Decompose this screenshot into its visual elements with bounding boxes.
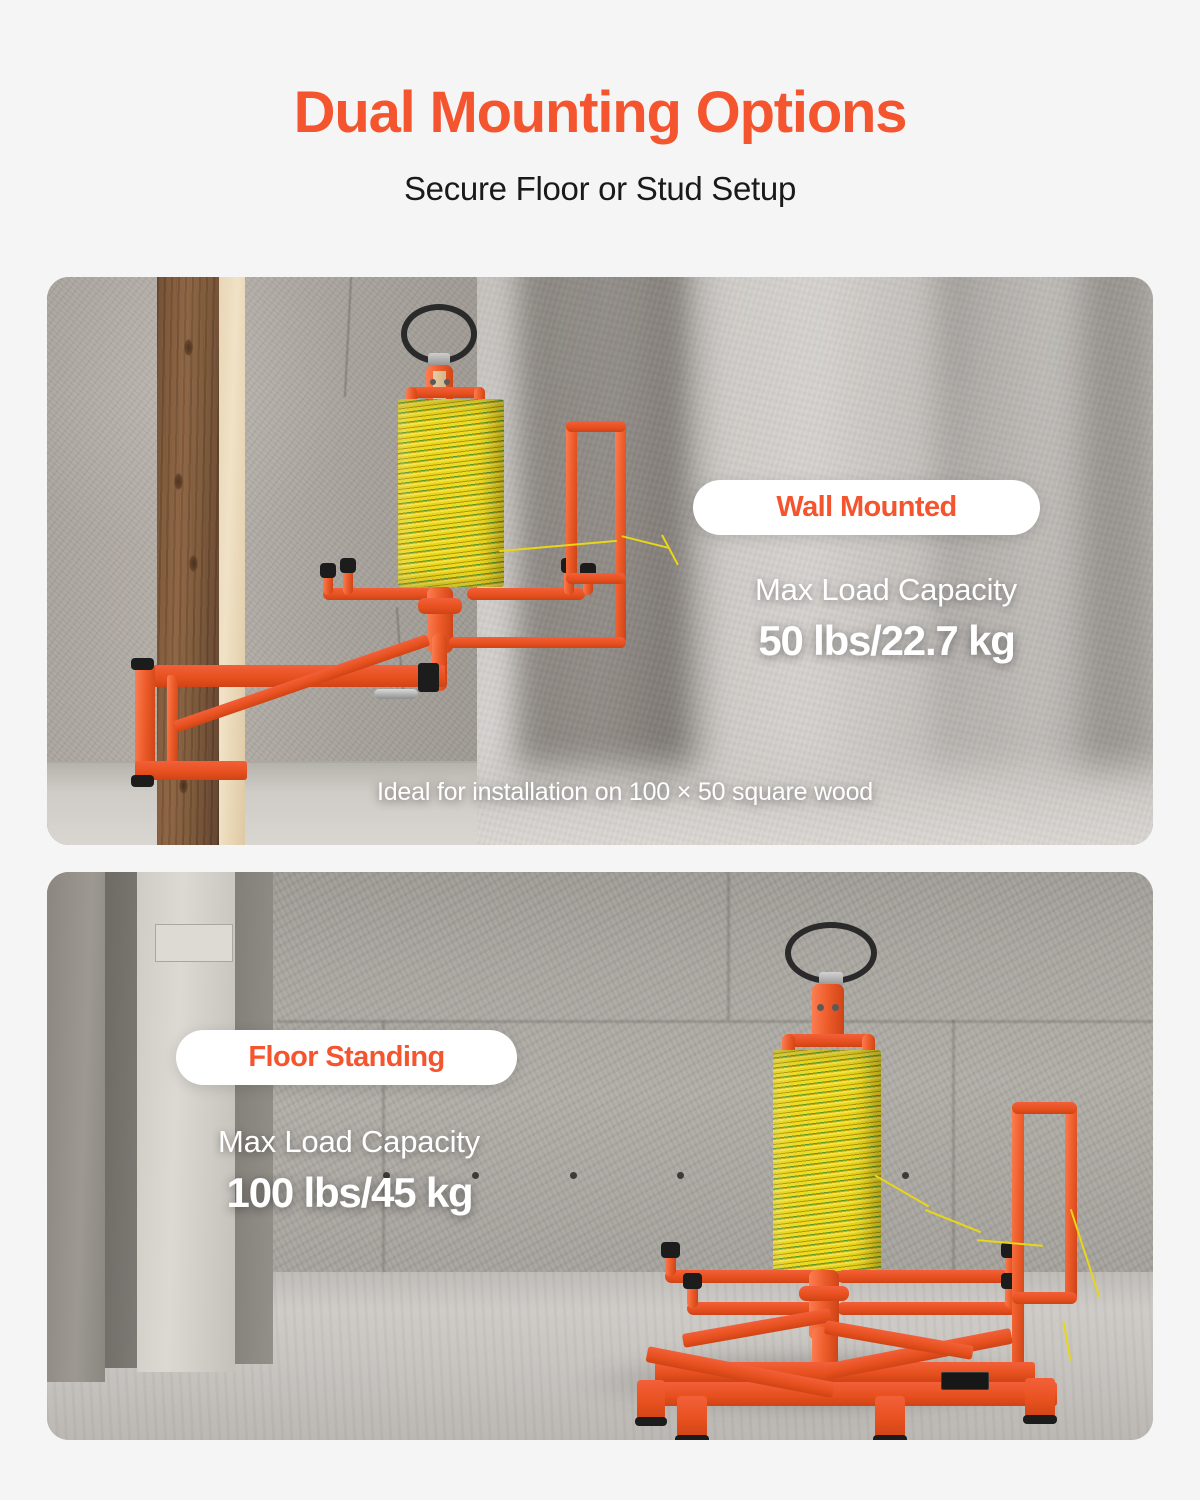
arm-cap-back-left: [661, 1242, 680, 1258]
anchor-dot-4: [677, 1172, 684, 1179]
mast-bolt-2: [832, 1004, 839, 1011]
page-title: Dual Mounting Options: [0, 84, 1200, 142]
floor-standing-badge-label: Floor Standing: [248, 1041, 444, 1074]
stud-edge: [219, 277, 245, 845]
wall-plate: [155, 924, 233, 962]
spec-label-plate: [941, 1372, 989, 1390]
wall-capacity-label: Max Load Capacity: [736, 572, 1036, 608]
mortar-joint-vertical-3: [952, 1020, 955, 1272]
arm-cap-far-left: [320, 563, 336, 578]
product-feature-page: Dual Mounting Options Secure Floor or St…: [0, 0, 1200, 1500]
floor-standing-badge: Floor Standing: [176, 1030, 517, 1085]
wire-coil: [398, 399, 504, 587]
base-foot-front-right: [875, 1396, 905, 1438]
arm-cap-front-left: [683, 1273, 702, 1289]
anchor-dot-6: [902, 1172, 909, 1179]
pivot-cap: [418, 663, 439, 692]
stud-knot-1: [184, 339, 193, 356]
mortar-joint-vertical-1: [727, 872, 730, 1020]
wall-footnote: Ideal for installation on 100 × 50 squar…: [305, 778, 945, 807]
wall-mounted-badge-label: Wall Mounted: [776, 491, 956, 524]
floor-standing-photo: Floor Standing Max Load Capacity 100 lbs…: [47, 872, 1153, 1440]
wall-mounted-photo: Wall Mounted Max Load Capacity 50 lbs/22…: [47, 277, 1153, 845]
guide-loop-lower-rail: [449, 637, 626, 648]
spool-arm-bar-right: [837, 1270, 1017, 1283]
stud-knot-2: [174, 473, 183, 490]
pillar-gap-shadow: [105, 872, 137, 1368]
stud-knot-3: [189, 555, 198, 572]
foot-pad-left: [635, 1417, 667, 1426]
pillar-shadow-right: [235, 872, 273, 1364]
hub-collar: [799, 1286, 849, 1301]
guide-loop-bottom: [566, 573, 626, 584]
pillar-outer: [47, 872, 105, 1382]
guide-loop-bottom: [1012, 1292, 1077, 1304]
mortar-joint-horizontal: [277, 1020, 1153, 1023]
base-foot-right: [1025, 1378, 1055, 1418]
foot-pad-front-right: [873, 1435, 907, 1440]
anchor-dot-3: [570, 1172, 577, 1179]
wire-coil: [773, 1050, 881, 1282]
guide-loop-left-leg: [1012, 1102, 1024, 1402]
spool-arm-bar-left: [323, 588, 433, 600]
page-subtitle: Secure Floor or Stud Setup: [0, 170, 1200, 208]
guide-loop-top: [1012, 1102, 1077, 1114]
foot-pad-front-left: [675, 1435, 709, 1440]
bracket-cap-top: [131, 658, 154, 670]
mast-bolt-1: [817, 1004, 824, 1011]
guide-loop-top: [566, 421, 626, 432]
arm-cap-left: [340, 558, 356, 573]
floor-capacity-label: Max Load Capacity: [189, 1124, 509, 1160]
wall-mounted-badge: Wall Mounted: [693, 480, 1040, 535]
wall-capacity-value: 50 lbs/22.7 kg: [709, 617, 1064, 665]
guide-loop-left-leg: [566, 421, 577, 582]
page-header: Dual Mounting Options Secure Floor or St…: [0, 0, 1200, 208]
bracket-cap-bottom: [131, 775, 154, 787]
foot-pad-right: [1023, 1415, 1057, 1424]
mast-bolt-2: [444, 379, 450, 385]
base-foot-front-left: [677, 1396, 707, 1438]
pivot-pin: [374, 689, 418, 699]
guide-loop-right-leg: [1065, 1102, 1077, 1302]
wall-mounted-card: Wall Mounted Max Load Capacity 50 lbs/22…: [47, 277, 1153, 845]
hub-plate: [418, 598, 462, 614]
floor-capacity-value: 100 lbs/45 kg: [177, 1169, 522, 1217]
spool-arm-bar-front-right: [837, 1302, 1017, 1315]
mast-bolt-1: [430, 379, 436, 385]
base-foot-left: [637, 1380, 665, 1420]
floor-standing-card: Floor Standing Max Load Capacity 100 lbs…: [47, 872, 1153, 1440]
guide-loop-right-leg: [615, 421, 626, 648]
